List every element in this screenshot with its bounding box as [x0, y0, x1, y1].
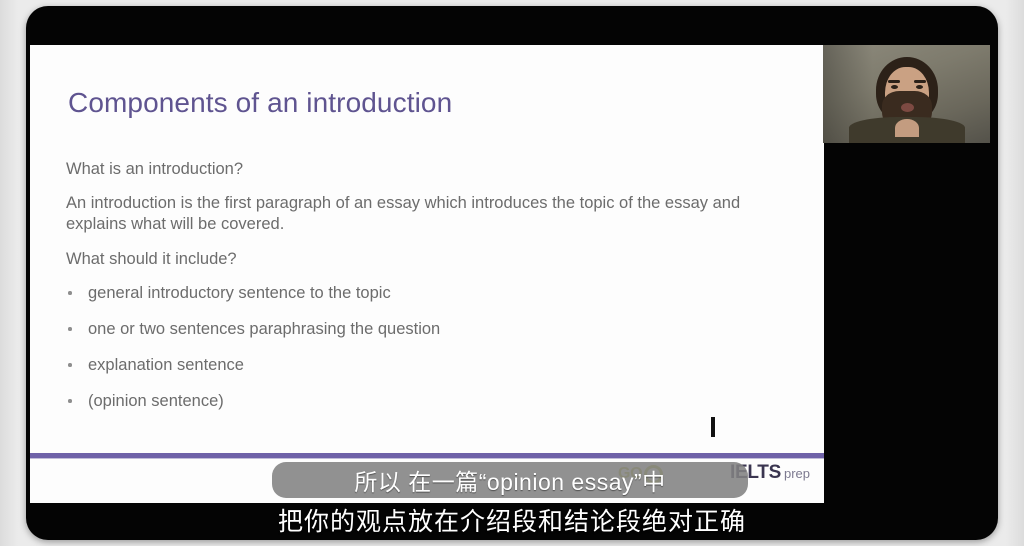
presenter-collar	[895, 119, 919, 137]
presenter-webcam[interactable]	[823, 45, 990, 143]
brand-prep-text: prep	[784, 467, 810, 480]
bullet-dot-icon	[68, 363, 72, 367]
page-backdrop: Components of an introduction What is an…	[0, 0, 1024, 546]
slide-canvas: Components of an introduction What is an…	[30, 45, 824, 503]
video-player[interactable]: Components of an introduction What is an…	[26, 6, 998, 540]
slide-question-1: What is an introduction?	[66, 159, 786, 180]
slide-divider-rule	[30, 453, 824, 458]
list-item-label: (opinion sentence)	[88, 392, 224, 410]
subtitle-line-2: 把你的观点放在介绍段和结论段绝对正确	[26, 502, 998, 538]
bullet-dot-icon	[68, 291, 72, 295]
slide-bullet-list: general introductory sentence to the top…	[66, 283, 786, 411]
list-item-label: one or two sentences paraphrasing the qu…	[88, 320, 440, 338]
slide-definition-paragraph: An introduction is the first paragraph o…	[66, 193, 786, 235]
text-cursor	[710, 417, 716, 437]
slide-question-2: What should it include?	[66, 249, 786, 270]
list-item: explanation sentence	[66, 355, 786, 375]
presenter-eyebrow-left	[888, 80, 900, 83]
presentation-slide: Components of an introduction What is an…	[30, 45, 824, 503]
list-item-label: explanation sentence	[88, 356, 244, 374]
slide-title: Components of an introduction	[68, 87, 452, 119]
list-item-label: general introductory sentence to the top…	[88, 284, 391, 302]
bullet-dot-icon	[68, 327, 72, 331]
subtitle-line-1-container: 所以 在一篇“opinion essay”中	[272, 462, 748, 498]
presenter-eyebrow-right	[914, 80, 926, 83]
list-item: (opinion sentence)	[66, 391, 786, 411]
presenter-eye-right	[916, 85, 923, 89]
subtitle-line-1: 所以 在一篇“opinion essay”中	[354, 463, 665, 497]
list-item: one or two sentences paraphrasing the qu…	[66, 319, 786, 339]
bullet-dot-icon	[68, 399, 72, 403]
presenter-mouth	[901, 103, 914, 112]
list-item: general introductory sentence to the top…	[66, 283, 786, 303]
presenter-eye-left	[891, 85, 898, 89]
slide-body: What is an introduction? An introduction…	[66, 159, 786, 427]
